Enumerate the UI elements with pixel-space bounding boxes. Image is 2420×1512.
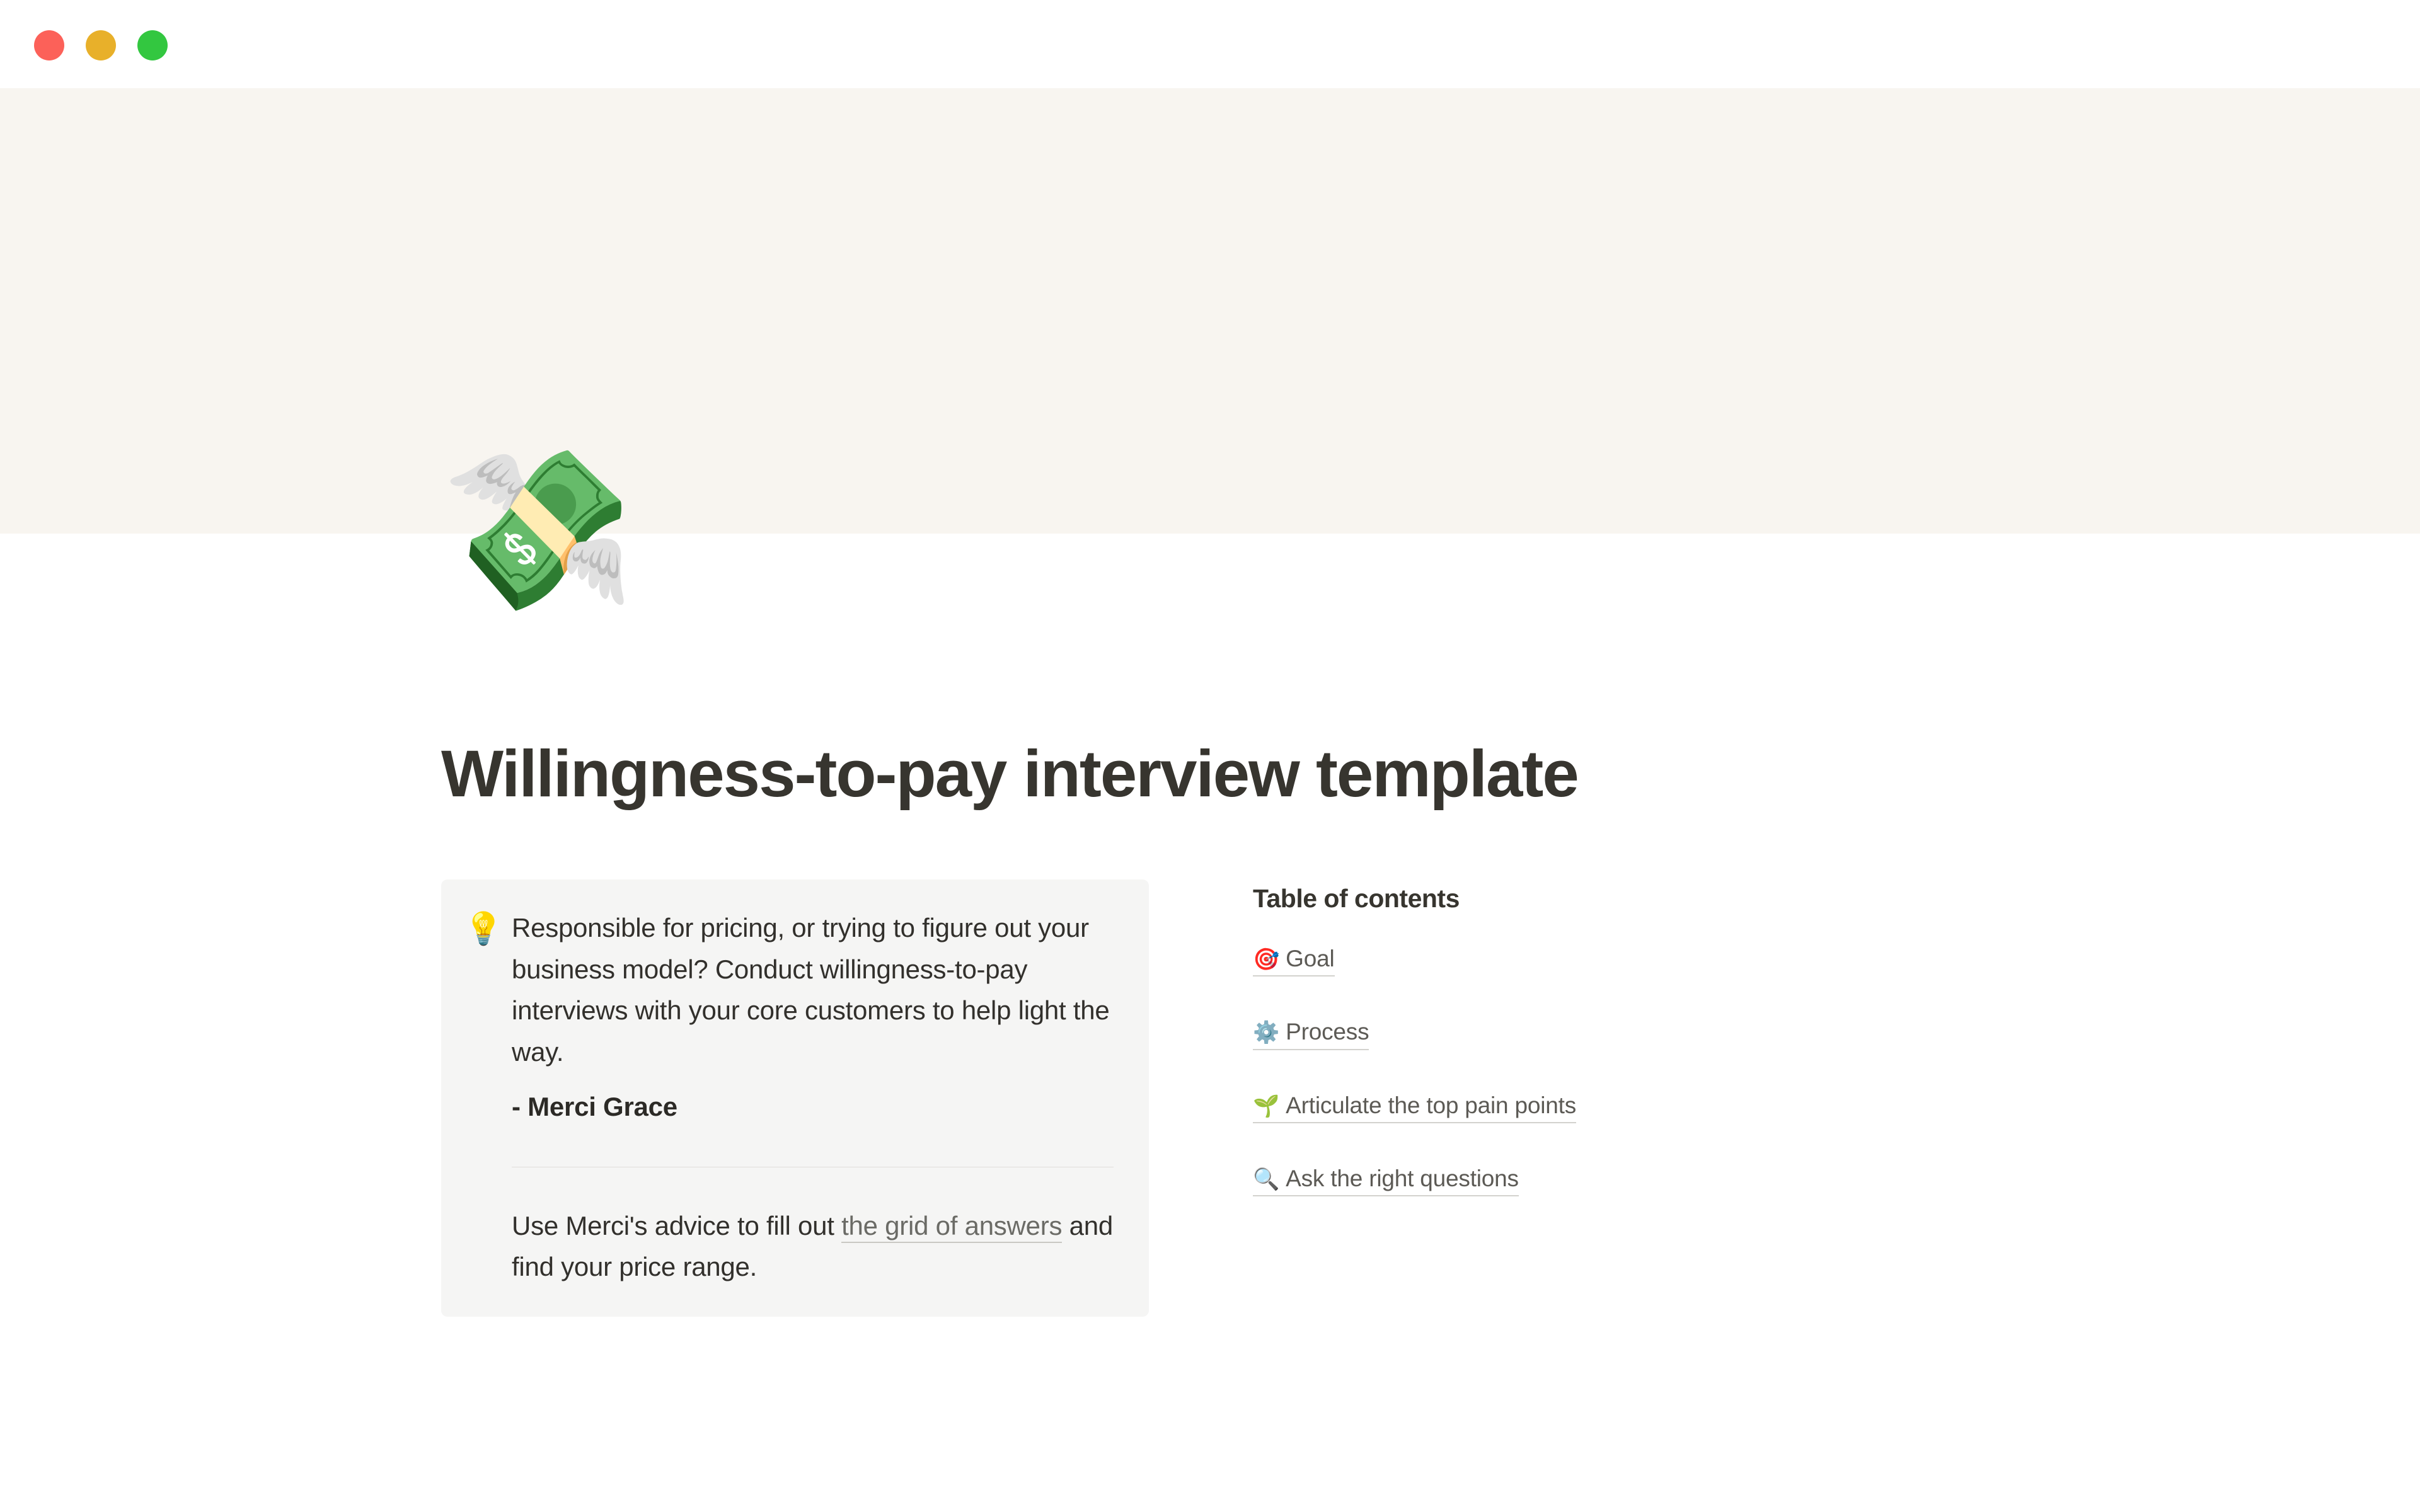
table-of-contents-heading: Table of contents [1253,883,1978,914]
callout-attribution: - Merci Grace [512,1086,1127,1128]
callout-divider [512,1167,1114,1167]
toc-item-goal[interactable]: 🎯Goal [1253,944,1335,976]
direct-hit-emoji: 🎯 [1253,947,1279,972]
maximize-window-button[interactable] [137,30,168,60]
page-title[interactable]: Willingness-to-pay interview template [441,737,2269,811]
close-window-button[interactable] [34,30,64,60]
callout-footer-paragraph: Use Merci's advice to fill out the grid … [512,1205,1127,1288]
content-columns: 💡 Responsible for pricing, or trying to … [441,879,1979,1317]
table-of-contents: Table of contents 🎯Goal ⚙️Process 🌱Artic… [1253,879,1978,1196]
toc-item-label: Process [1286,1019,1369,1045]
minimize-window-button[interactable] [86,30,116,60]
callout-block[interactable]: 💡 Responsible for pricing, or trying to … [441,879,1149,1317]
page-cover-banner[interactable] [0,88,2420,534]
seedling-emoji: 🌱 [1253,1094,1279,1119]
magnifying-glass-emoji: 🔍 [1253,1167,1279,1192]
traffic-light-group [34,30,168,60]
callout-content: Responsible for pricing, or trying to fi… [512,907,1127,1288]
toc-item-ask-the-right-questions[interactable]: 🔍Ask the right questions [1253,1164,1519,1196]
callout-paragraph: Responsible for pricing, or trying to fi… [512,907,1127,1072]
light-bulb-emoji: 💡 [464,907,512,949]
gear-emoji: ⚙️ [1253,1020,1279,1045]
window-title-bar [0,0,2420,88]
toc-item-label: Goal [1286,946,1334,971]
grid-of-answers-link[interactable]: the grid of answers [841,1211,1062,1243]
toc-item-process[interactable]: ⚙️Process [1253,1017,1369,1050]
toc-item-label: Articulate the top pain points [1286,1092,1576,1118]
toc-item-articulate-the-top-pain-points[interactable]: 🌱Articulate the top pain points [1253,1091,1576,1123]
callout-footer-text-before: Use Merci's advice to fill out [512,1211,841,1240]
money-with-wings-emoji[interactable]: 💸 [441,442,618,619]
toc-item-label: Ask the right questions [1286,1165,1519,1191]
